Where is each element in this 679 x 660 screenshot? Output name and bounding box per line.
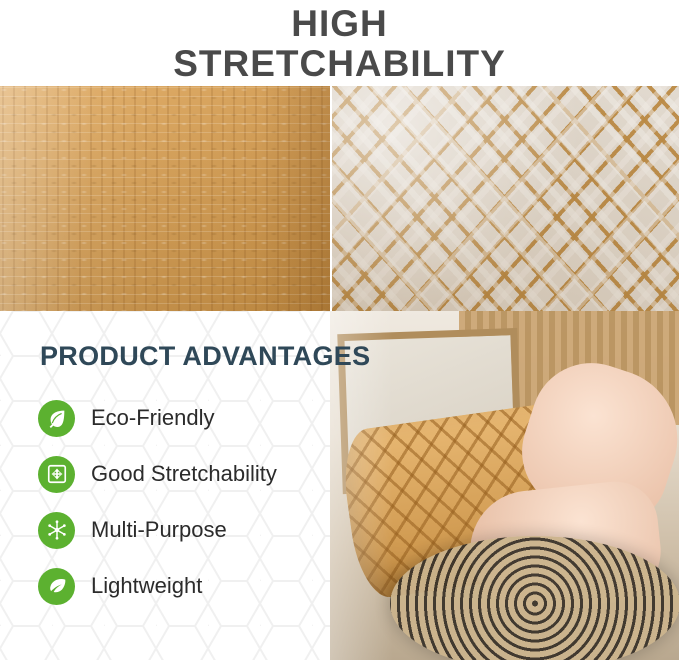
honeycomb-mesh-shading bbox=[330, 86, 679, 311]
list-item: Lightweight bbox=[38, 558, 368, 614]
leaf-icon bbox=[38, 400, 75, 437]
photo-honeycomb-mesh-stretched bbox=[330, 86, 679, 311]
top-photo-strip bbox=[0, 86, 679, 311]
list-item: Eco-Friendly bbox=[38, 390, 368, 446]
advantage-label: Lightweight bbox=[91, 573, 202, 599]
photo-divider bbox=[330, 86, 332, 311]
photo-kraft-paper-flat bbox=[0, 86, 330, 311]
list-item: Multi-Purpose bbox=[38, 502, 368, 558]
photo-hands-wrapping bbox=[330, 311, 679, 660]
advantage-label: Multi-Purpose bbox=[91, 517, 227, 543]
advantages-title: PRODUCT ADVANTAGES bbox=[40, 341, 370, 372]
kraft-shading bbox=[0, 86, 330, 311]
advantages-list: Eco-Friendly Good Stretchability bbox=[38, 390, 368, 614]
advantages-section: PRODUCT ADVANTAGES Eco-Friendly bbox=[0, 311, 679, 660]
page-title: HIGH STRETCHABILITY bbox=[0, 0, 679, 86]
headline-line-2: STRETCHABILITY bbox=[0, 44, 679, 84]
product-infographic: HIGH STRETCHABILITY bbox=[0, 0, 679, 660]
multi-arrows-icon bbox=[38, 512, 75, 549]
feather-icon bbox=[38, 568, 75, 605]
advantage-label: Eco-Friendly bbox=[91, 405, 214, 431]
stretch-arrows-icon bbox=[38, 456, 75, 493]
headline-line-1: HIGH bbox=[0, 4, 679, 44]
advantage-label: Good Stretchability bbox=[91, 461, 277, 487]
list-item: Good Stretchability bbox=[38, 446, 368, 502]
photo-edge-shading bbox=[330, 311, 679, 660]
